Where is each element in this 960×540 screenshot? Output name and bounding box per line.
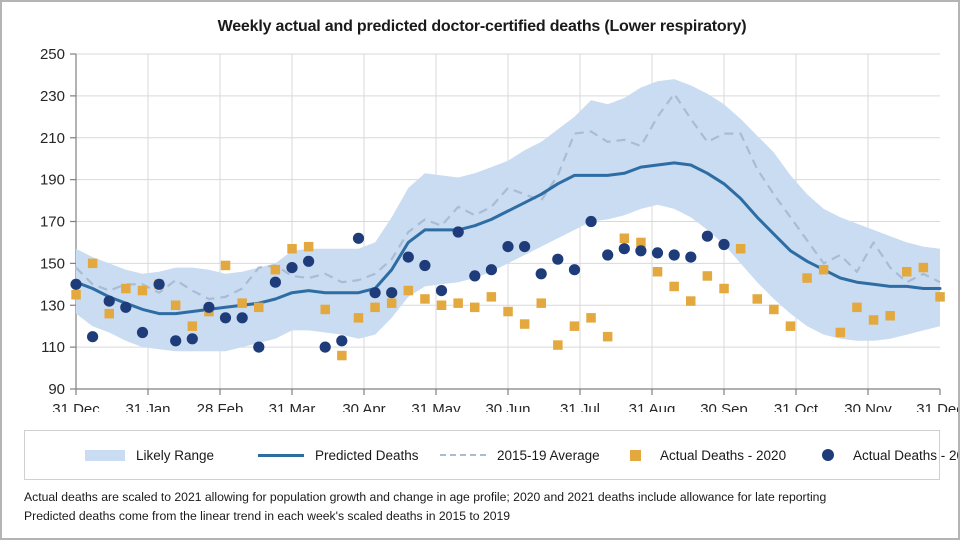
data-point-2020	[503, 307, 513, 317]
data-point-2021	[203, 302, 214, 313]
plot-area: 2502302101901701501301109031 Dec31 Jan28…	[2, 42, 960, 412]
data-point-2020	[287, 244, 297, 254]
data-point-2021	[336, 335, 347, 346]
legend-item-line[interactable]: Predicted Deaths	[258, 431, 419, 479]
data-point-2021	[685, 252, 696, 263]
data-point-2020	[703, 271, 713, 281]
data-point-2020	[669, 282, 679, 292]
data-point-2021	[120, 302, 131, 313]
data-point-2021	[403, 252, 414, 263]
data-point-2021	[170, 335, 181, 346]
data-point-2020	[736, 244, 746, 254]
data-point-2021	[253, 342, 264, 353]
data-point-2020	[653, 267, 663, 277]
footnote-line-1: Actual deaths are scaled to 2021 allowin…	[24, 488, 940, 507]
data-point-2021	[137, 327, 148, 338]
data-point-2021	[469, 270, 480, 281]
x-tick-label: 31 Mar	[269, 401, 316, 412]
data-point-2021	[320, 342, 331, 353]
data-point-2020	[453, 298, 463, 308]
data-point-2021	[370, 287, 381, 298]
legend-label: Likely Range	[136, 448, 214, 463]
data-point-2020	[71, 290, 81, 300]
data-point-2021	[104, 296, 115, 307]
legend-swatch-circle-icon	[822, 449, 834, 461]
legend-item-circle[interactable]: Actual Deaths - 2021	[805, 431, 960, 479]
data-point-2021	[702, 231, 713, 242]
y-tick-label: 190	[40, 172, 65, 189]
footnotes: Actual deaths are scaled to 2021 allowin…	[24, 488, 940, 526]
data-point-2021	[602, 249, 613, 260]
footnote-line-2: Predicted deaths come from the linear tr…	[24, 507, 940, 526]
data-point-2021	[436, 285, 447, 296]
legend-item-dashed[interactable]: 2015-19 Average	[440, 431, 600, 479]
data-point-2021	[70, 279, 81, 290]
data-point-2021	[286, 262, 297, 273]
data-point-2021	[220, 312, 231, 323]
data-point-2020	[88, 259, 98, 269]
legend-item-square[interactable]: Actual Deaths - 2020	[613, 431, 786, 479]
legend-label: Actual Deaths - 2020	[660, 448, 786, 463]
x-tick-label: 30 Apr	[342, 401, 385, 412]
x-tick-label: 30 Nov	[844, 401, 892, 412]
x-tick-label: 28 Feb	[197, 401, 244, 412]
data-point-2020	[221, 261, 231, 271]
data-point-2021	[270, 277, 281, 288]
legend-swatch-dashed-icon	[440, 454, 486, 456]
data-point-2020	[935, 292, 945, 302]
data-point-2020	[603, 332, 613, 342]
data-point-2020	[321, 305, 331, 315]
x-tick-label: 31 May	[411, 401, 461, 412]
y-tick-label: 150	[40, 255, 65, 272]
data-point-2020	[869, 315, 879, 325]
legend-item-band[interactable]: Likely Range	[85, 431, 214, 479]
chart-page: Weekly actual and predicted doctor-certi…	[0, 0, 960, 540]
data-point-2020	[420, 294, 430, 304]
data-point-2021	[718, 239, 729, 250]
data-point-2021	[536, 268, 547, 279]
data-point-2021	[453, 226, 464, 237]
data-point-2021	[586, 216, 597, 227]
x-tick-label: 31 Dec	[916, 401, 960, 412]
data-point-2021	[386, 287, 397, 298]
data-point-2021	[619, 243, 630, 254]
data-point-2020	[520, 319, 530, 329]
data-point-2020	[437, 301, 447, 311]
chart-svg: 2502302101901701501301109031 Dec31 Jan28…	[2, 42, 960, 412]
data-point-2020	[188, 321, 198, 331]
data-point-2021	[237, 312, 248, 323]
data-point-2021	[303, 256, 314, 267]
data-point-2021	[353, 233, 364, 244]
legend-swatch-square-icon	[630, 450, 641, 461]
y-tick-label: 110	[41, 339, 65, 356]
legend-swatch-band-icon	[85, 450, 125, 461]
data-point-2020	[753, 294, 763, 304]
data-point-2020	[719, 284, 729, 294]
x-tick-label: 30 Jun	[485, 401, 530, 412]
data-point-2021	[502, 241, 513, 252]
y-tick-label: 250	[40, 46, 65, 63]
data-point-2020	[470, 303, 480, 313]
page-title: Weekly actual and predicted doctor-certi…	[2, 18, 960, 36]
data-point-2020	[819, 265, 829, 275]
data-point-2020	[237, 298, 247, 308]
data-point-2020	[620, 234, 630, 244]
data-point-2021	[87, 331, 98, 342]
data-point-2020	[537, 298, 547, 308]
y-tick-label: 230	[40, 88, 65, 105]
legend-label: Actual Deaths - 2021	[853, 448, 960, 463]
data-point-2020	[354, 313, 364, 323]
y-tick-label: 90	[48, 381, 65, 398]
data-point-2020	[304, 242, 314, 252]
x-tick-label: 31 Dec	[52, 401, 100, 412]
data-point-2020	[387, 298, 397, 308]
data-point-2020	[686, 296, 696, 306]
y-tick-label: 210	[40, 130, 65, 147]
x-tick-label: 31 Jan	[125, 401, 170, 412]
data-point-2021	[652, 247, 663, 258]
y-tick-label: 170	[40, 214, 65, 231]
data-point-2020	[487, 292, 497, 302]
data-point-2021	[669, 249, 680, 260]
x-tick-label: 31 Oct	[774, 401, 819, 412]
data-point-2020	[254, 303, 264, 313]
legend-swatch-line-icon	[258, 454, 304, 457]
data-point-2021	[635, 245, 646, 256]
data-point-2021	[486, 264, 497, 275]
data-point-2020	[171, 301, 181, 311]
data-point-2021	[519, 241, 530, 252]
x-tick-label: 31 Jul	[560, 401, 600, 412]
data-point-2020	[404, 286, 414, 296]
data-point-2020	[769, 305, 779, 315]
legend-label: 2015-19 Average	[497, 448, 600, 463]
data-point-2021	[419, 260, 430, 271]
x-tick-label: 31 Aug	[629, 401, 676, 412]
data-point-2020	[138, 286, 148, 296]
data-point-2020	[786, 321, 796, 331]
data-point-2020	[902, 267, 912, 277]
data-point-2020	[105, 309, 115, 319]
y-tick-label: 130	[40, 297, 65, 314]
data-point-2020	[370, 303, 380, 313]
data-point-2020	[885, 311, 895, 321]
data-point-2020	[919, 263, 929, 273]
x-tick-label: 30 Sep	[700, 401, 748, 412]
data-point-2020	[553, 340, 563, 350]
chart-legend: Likely RangePredicted Deaths2015-19 Aver…	[24, 430, 940, 480]
data-point-2021	[569, 264, 580, 275]
data-point-2020	[836, 328, 846, 338]
data-point-2020	[586, 313, 596, 323]
data-point-2020	[852, 303, 862, 313]
data-point-2021	[154, 279, 165, 290]
data-point-2021	[187, 333, 198, 344]
data-point-2020	[570, 321, 580, 331]
data-point-2020	[121, 284, 131, 294]
data-point-2020	[337, 351, 347, 361]
data-point-2020	[271, 265, 281, 275]
data-point-2021	[552, 254, 563, 265]
legend-label: Predicted Deaths	[315, 448, 419, 463]
data-point-2020	[802, 273, 812, 283]
